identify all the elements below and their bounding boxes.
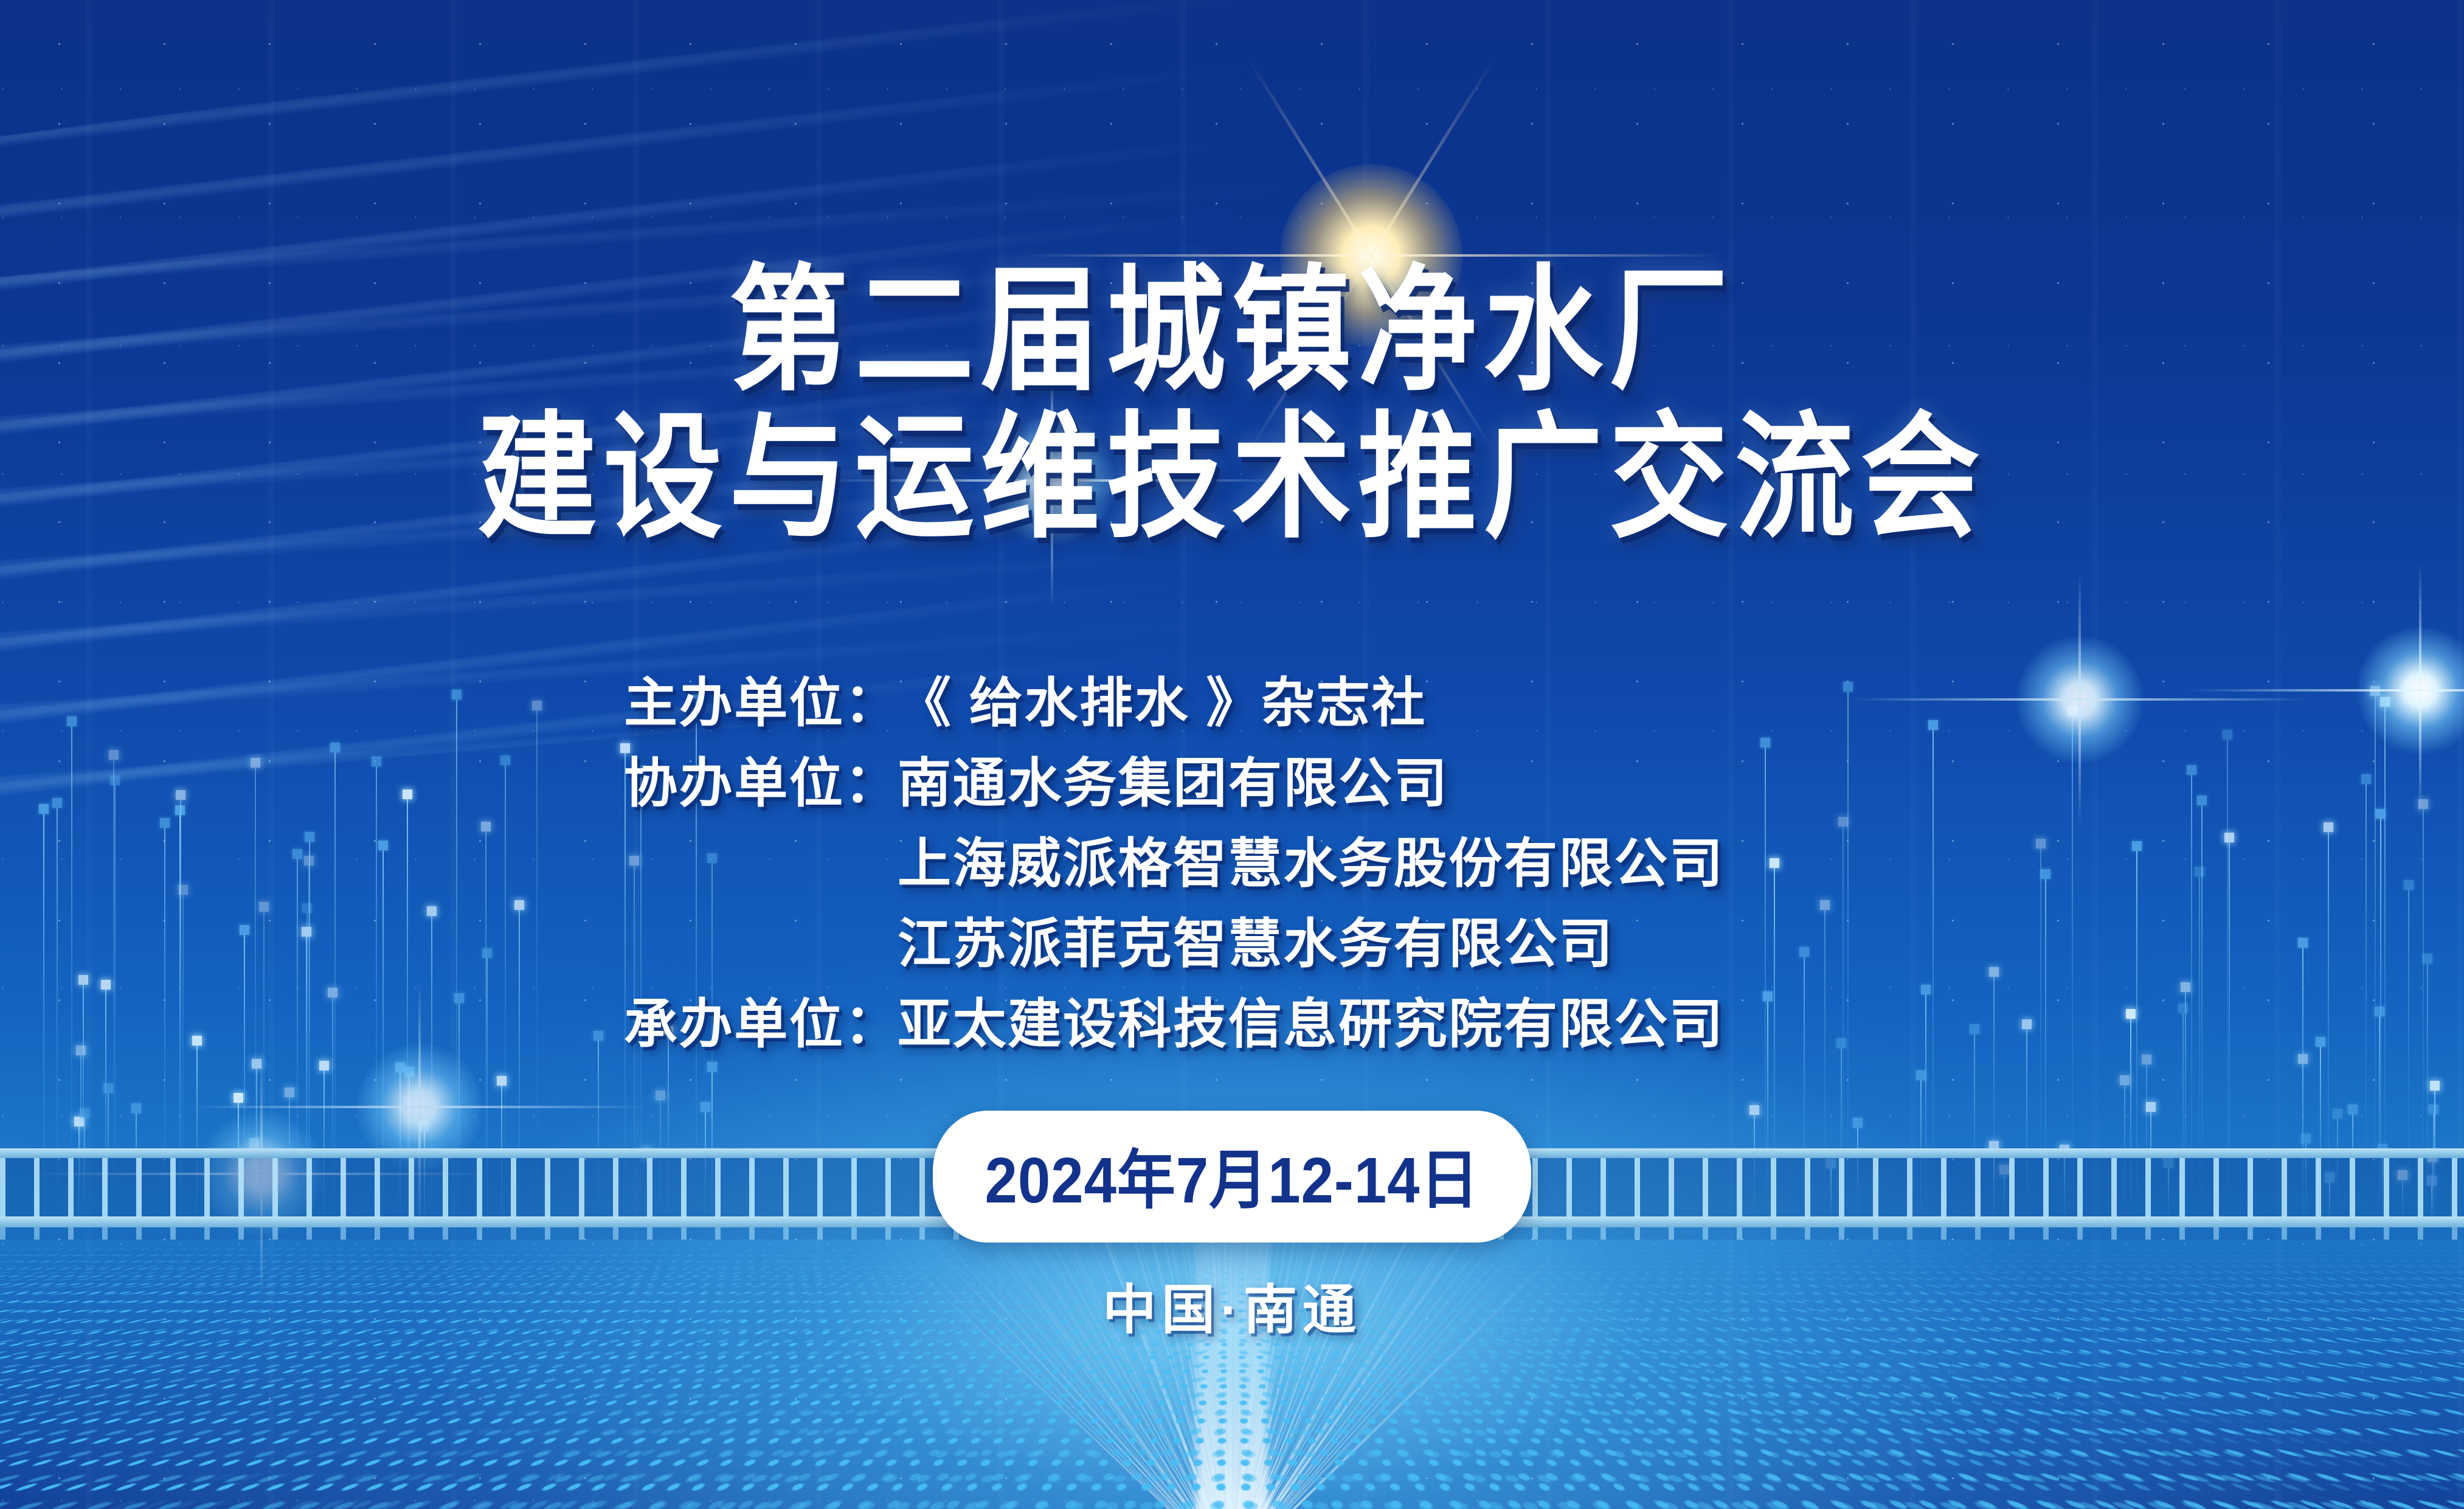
organizer-value: 南通水务集团有限公司 bbox=[898, 743, 1840, 824]
organizer-row: 上海威派格智慧水务股份有限公司 bbox=[624, 824, 1840, 904]
organizer-label: 主办单位： bbox=[624, 663, 898, 743]
date-badge: 2024年7月12-14日 bbox=[933, 1111, 1532, 1243]
location-label: 中国·南通 bbox=[1102, 1267, 1361, 1344]
organizer-value: 上海威派格智慧水务股份有限公司 bbox=[898, 824, 1840, 904]
organizer-value: 江苏派菲克智慧水务有限公司 bbox=[898, 904, 1840, 984]
organizer-value: 亚太建设科技信息研究院有限公司 bbox=[898, 984, 1840, 1064]
organizer-list: 主办单位： 《 给水排水 》杂志社 协办单位： 南通水务集团有限公司 上海威派格… bbox=[624, 663, 1840, 1064]
organizer-label: 协办单位： bbox=[624, 743, 898, 824]
organizer-row: 主办单位： 《 给水排水 》杂志社 bbox=[624, 663, 1840, 743]
title-line-2: 建设与运维技术推广交流会 bbox=[0, 409, 2464, 547]
organizer-row: 承办单位： 亚太建设科技信息研究院有限公司 bbox=[624, 984, 1840, 1064]
poster-title: 第二届城镇净水厂 建设与运维技术推广交流会 bbox=[0, 262, 2464, 530]
organizer-value: 《 给水排水 》杂志社 bbox=[898, 663, 1840, 743]
title-line-1: 第二届城镇净水厂 bbox=[0, 262, 2464, 400]
organizer-row: 江苏派菲克智慧水务有限公司 bbox=[624, 904, 1840, 984]
organizer-row: 协办单位： 南通水务集团有限公司 bbox=[624, 743, 1840, 824]
conference-poster: 第二届城镇净水厂 建设与运维技术推广交流会 主办单位： 《 给水排水 》杂志社 … bbox=[0, 0, 2464, 1509]
poster-content: 第二届城镇净水厂 建设与运维技术推广交流会 主办单位： 《 给水排水 》杂志社 … bbox=[0, 0, 2464, 1509]
organizer-label: 承办单位： bbox=[624, 984, 898, 1064]
